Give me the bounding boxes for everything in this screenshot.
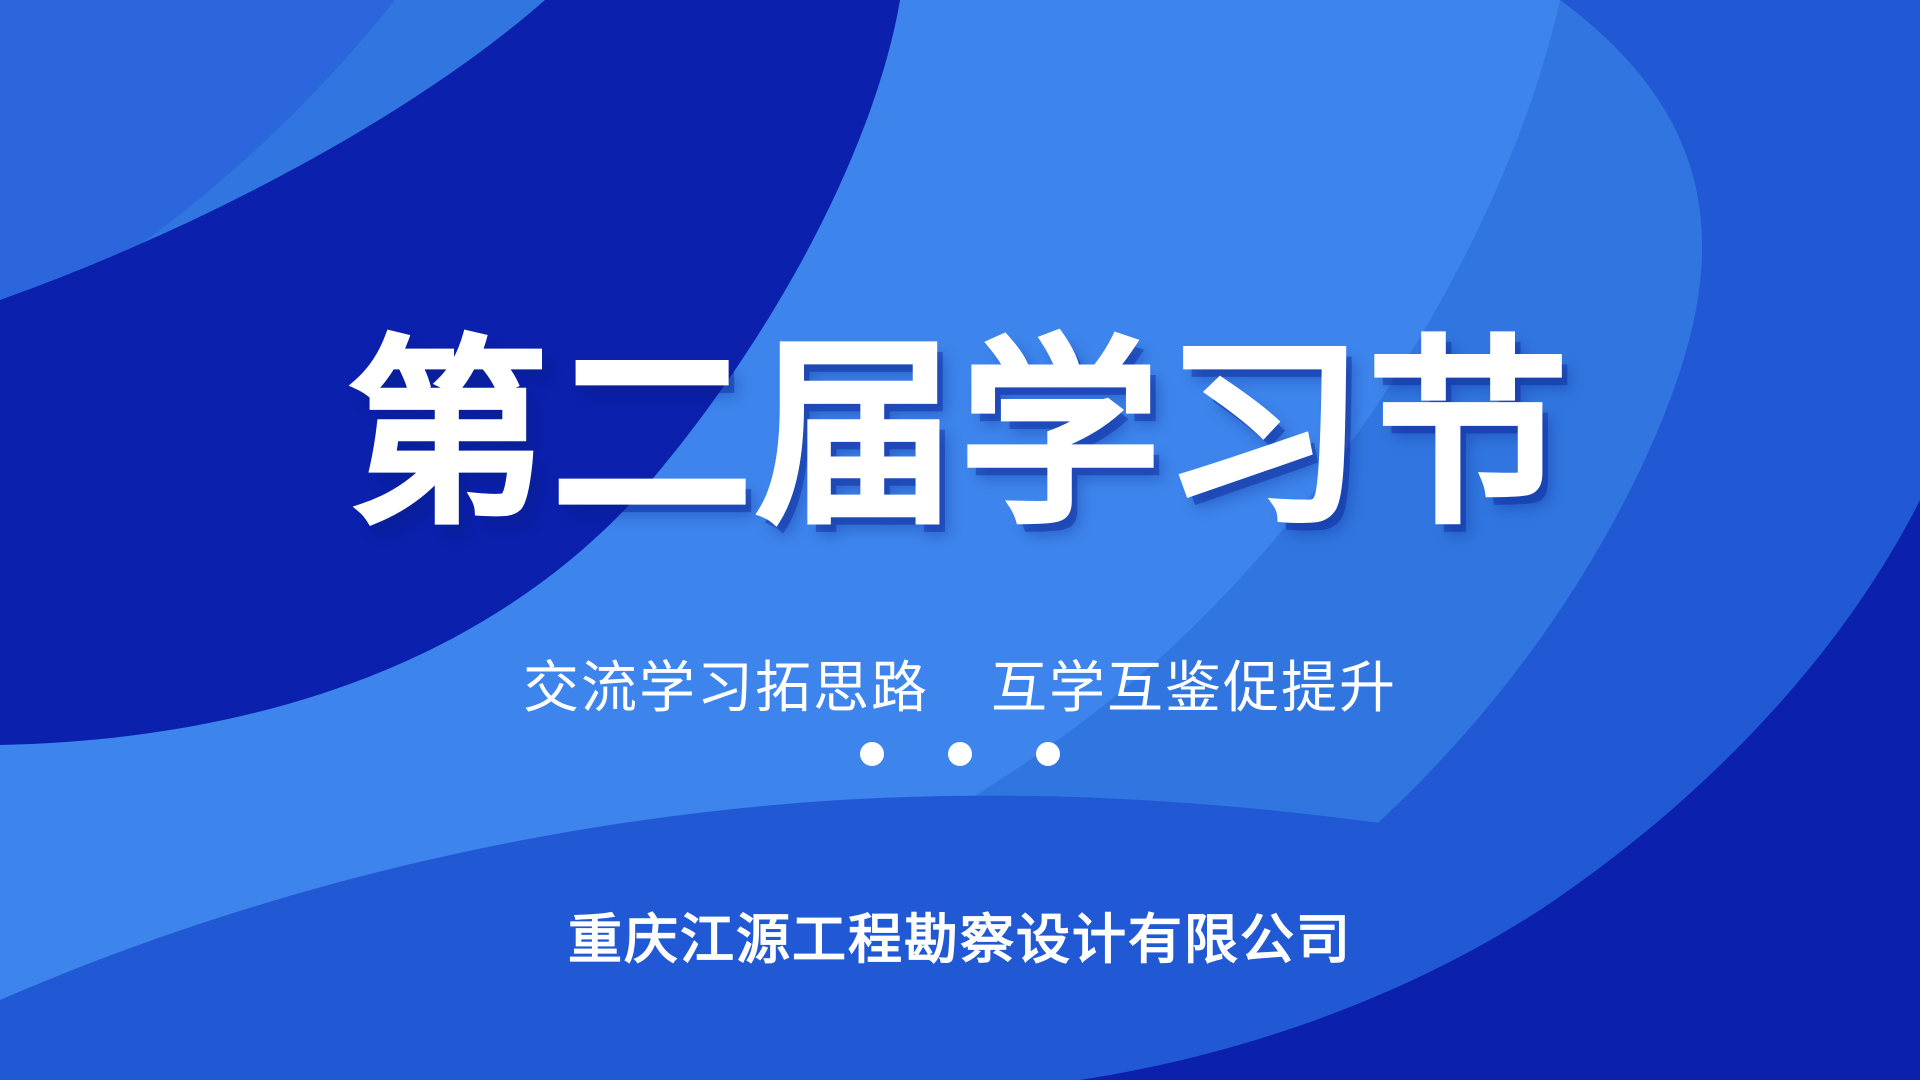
organization-name: 重庆江源工程勘察设计有限公司	[568, 908, 1352, 973]
content-layer: 第二届学习节 交流学习拓思路 互学互鉴促提升 重庆江源工程勘察设计有限公司	[0, 0, 1920, 1080]
page-title: 第二届学习节	[348, 330, 1572, 542]
divider-dot-3	[1036, 742, 1060, 766]
poster-canvas: 第二届学习节 交流学习拓思路 互学互鉴促提升 重庆江源工程勘察设计有限公司	[0, 0, 1920, 1080]
subtitle-left-phrase: 交流学习拓思路	[523, 654, 929, 721]
title-block: 第二届学习节	[0, 330, 1920, 542]
three-dots-divider	[0, 742, 1920, 766]
organization-block: 重庆江源工程勘察设计有限公司	[0, 908, 1920, 973]
subtitle: 交流学习拓思路 互学互鉴促提升	[523, 654, 1397, 721]
divider-dot-1	[860, 742, 884, 766]
subtitle-right-phrase: 互学互鉴促提升	[991, 654, 1397, 721]
divider-dot-2	[948, 742, 972, 766]
